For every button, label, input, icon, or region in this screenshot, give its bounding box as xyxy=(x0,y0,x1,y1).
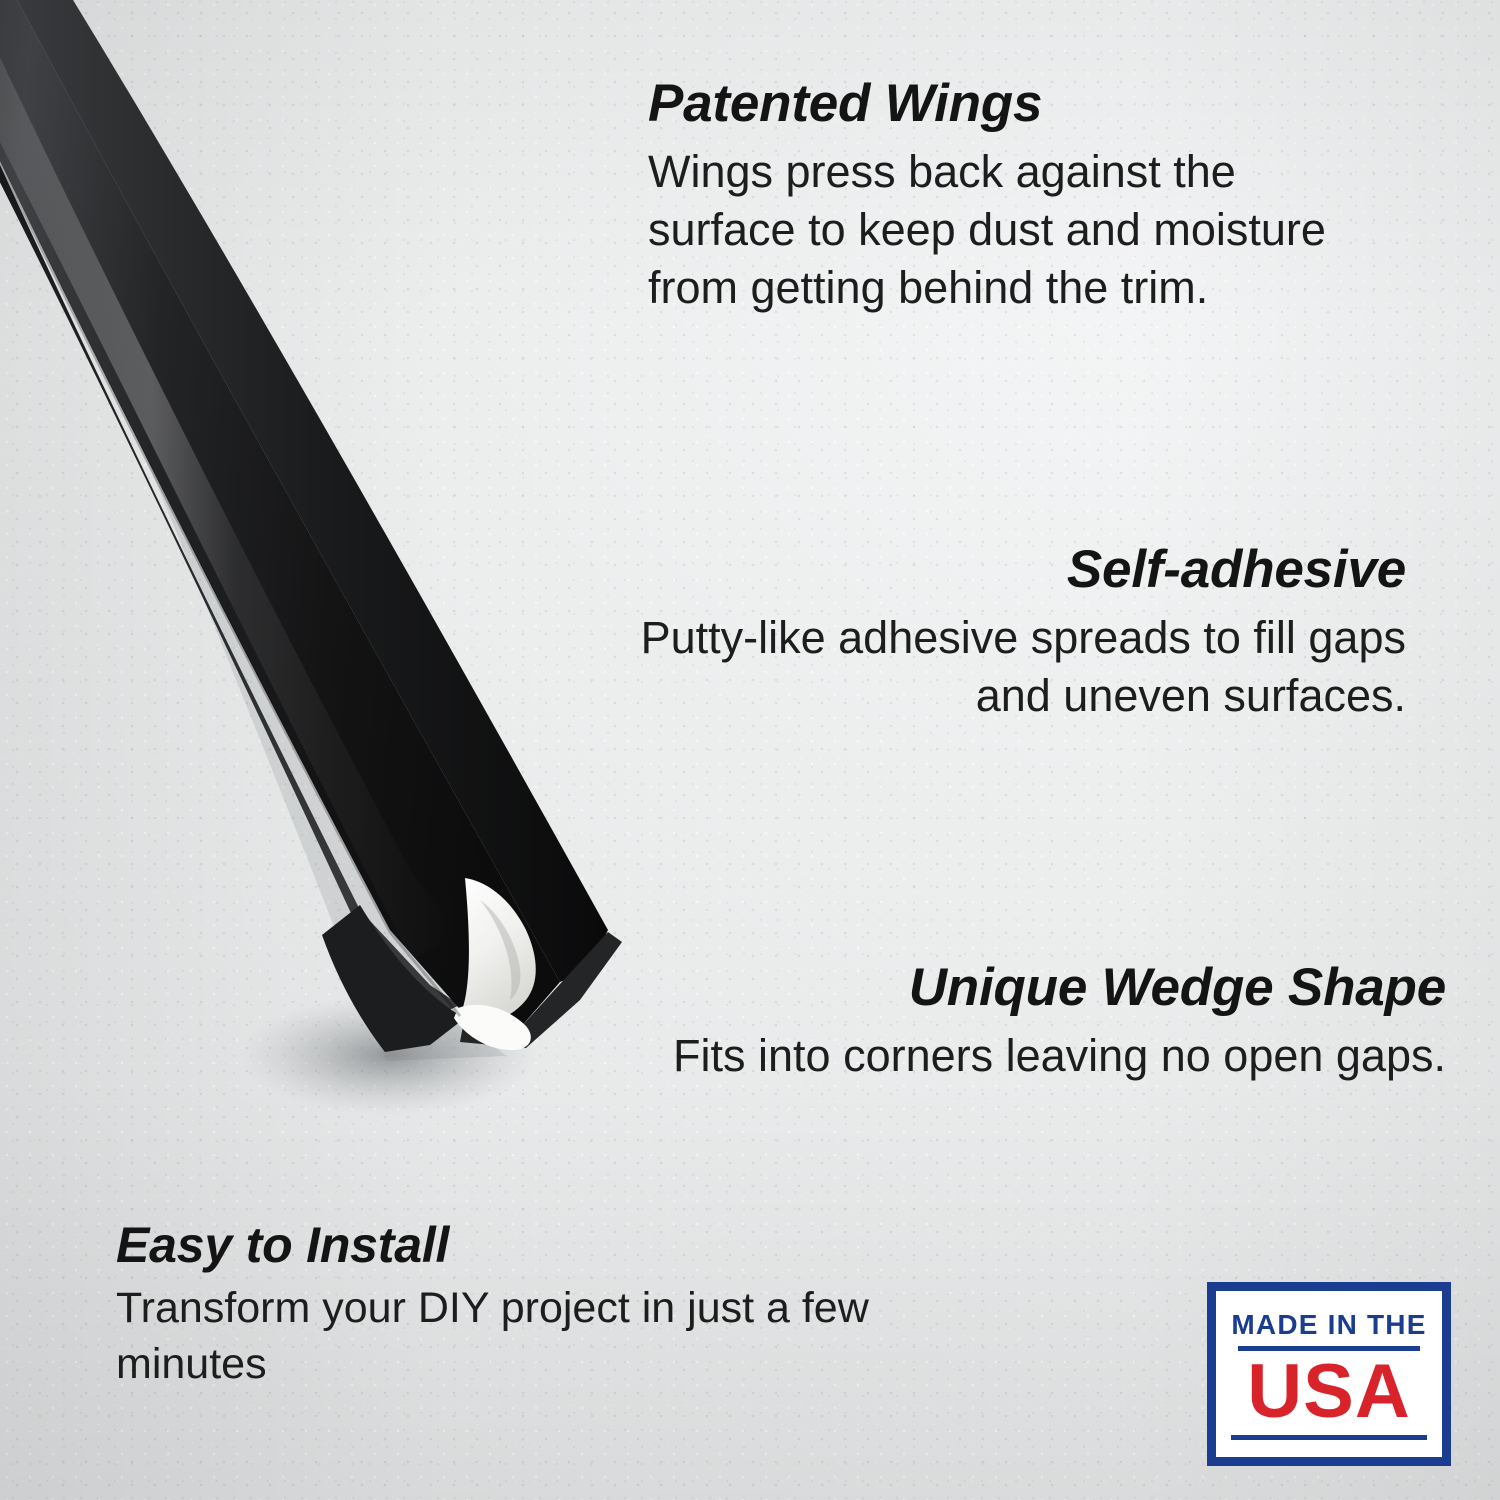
feature-patented-wings: Patented Wings Wings press back against … xyxy=(648,74,1348,317)
feature-heading: Easy to Install xyxy=(116,1216,876,1274)
feature-body: Transform your DIY project in just a few… xyxy=(116,1280,876,1392)
badge-line-made-in-the: MADE IN THE xyxy=(1231,1310,1426,1340)
badge-line-usa: USA xyxy=(1247,1353,1410,1431)
trim-main-face xyxy=(0,0,560,1028)
feature-heading: Unique Wedge Shape xyxy=(600,958,1446,1018)
feature-heading: Patented Wings xyxy=(648,74,1348,134)
badge-divider-bottom xyxy=(1231,1435,1427,1440)
feature-self-adhesive: Self-adhesive Putty-like adhesive spread… xyxy=(560,540,1406,725)
feature-easy-to-install: Easy to Install Transform your DIY proje… xyxy=(116,1216,876,1392)
feature-body: Fits into corners leaving no open gaps. xyxy=(600,1027,1446,1085)
made-in-usa-badge: MADE IN THE USA xyxy=(1207,1282,1451,1466)
feature-body: Putty-like adhesive spreads to fill gaps… xyxy=(560,609,1406,725)
feature-unique-wedge-shape: Unique Wedge Shape Fits into corners lea… xyxy=(600,958,1446,1085)
feature-heading: Self-adhesive xyxy=(560,540,1406,600)
infographic-canvas: Patented Wings Wings press back against … xyxy=(0,0,1500,1500)
feature-body: Wings press back against the surface to … xyxy=(648,143,1348,317)
